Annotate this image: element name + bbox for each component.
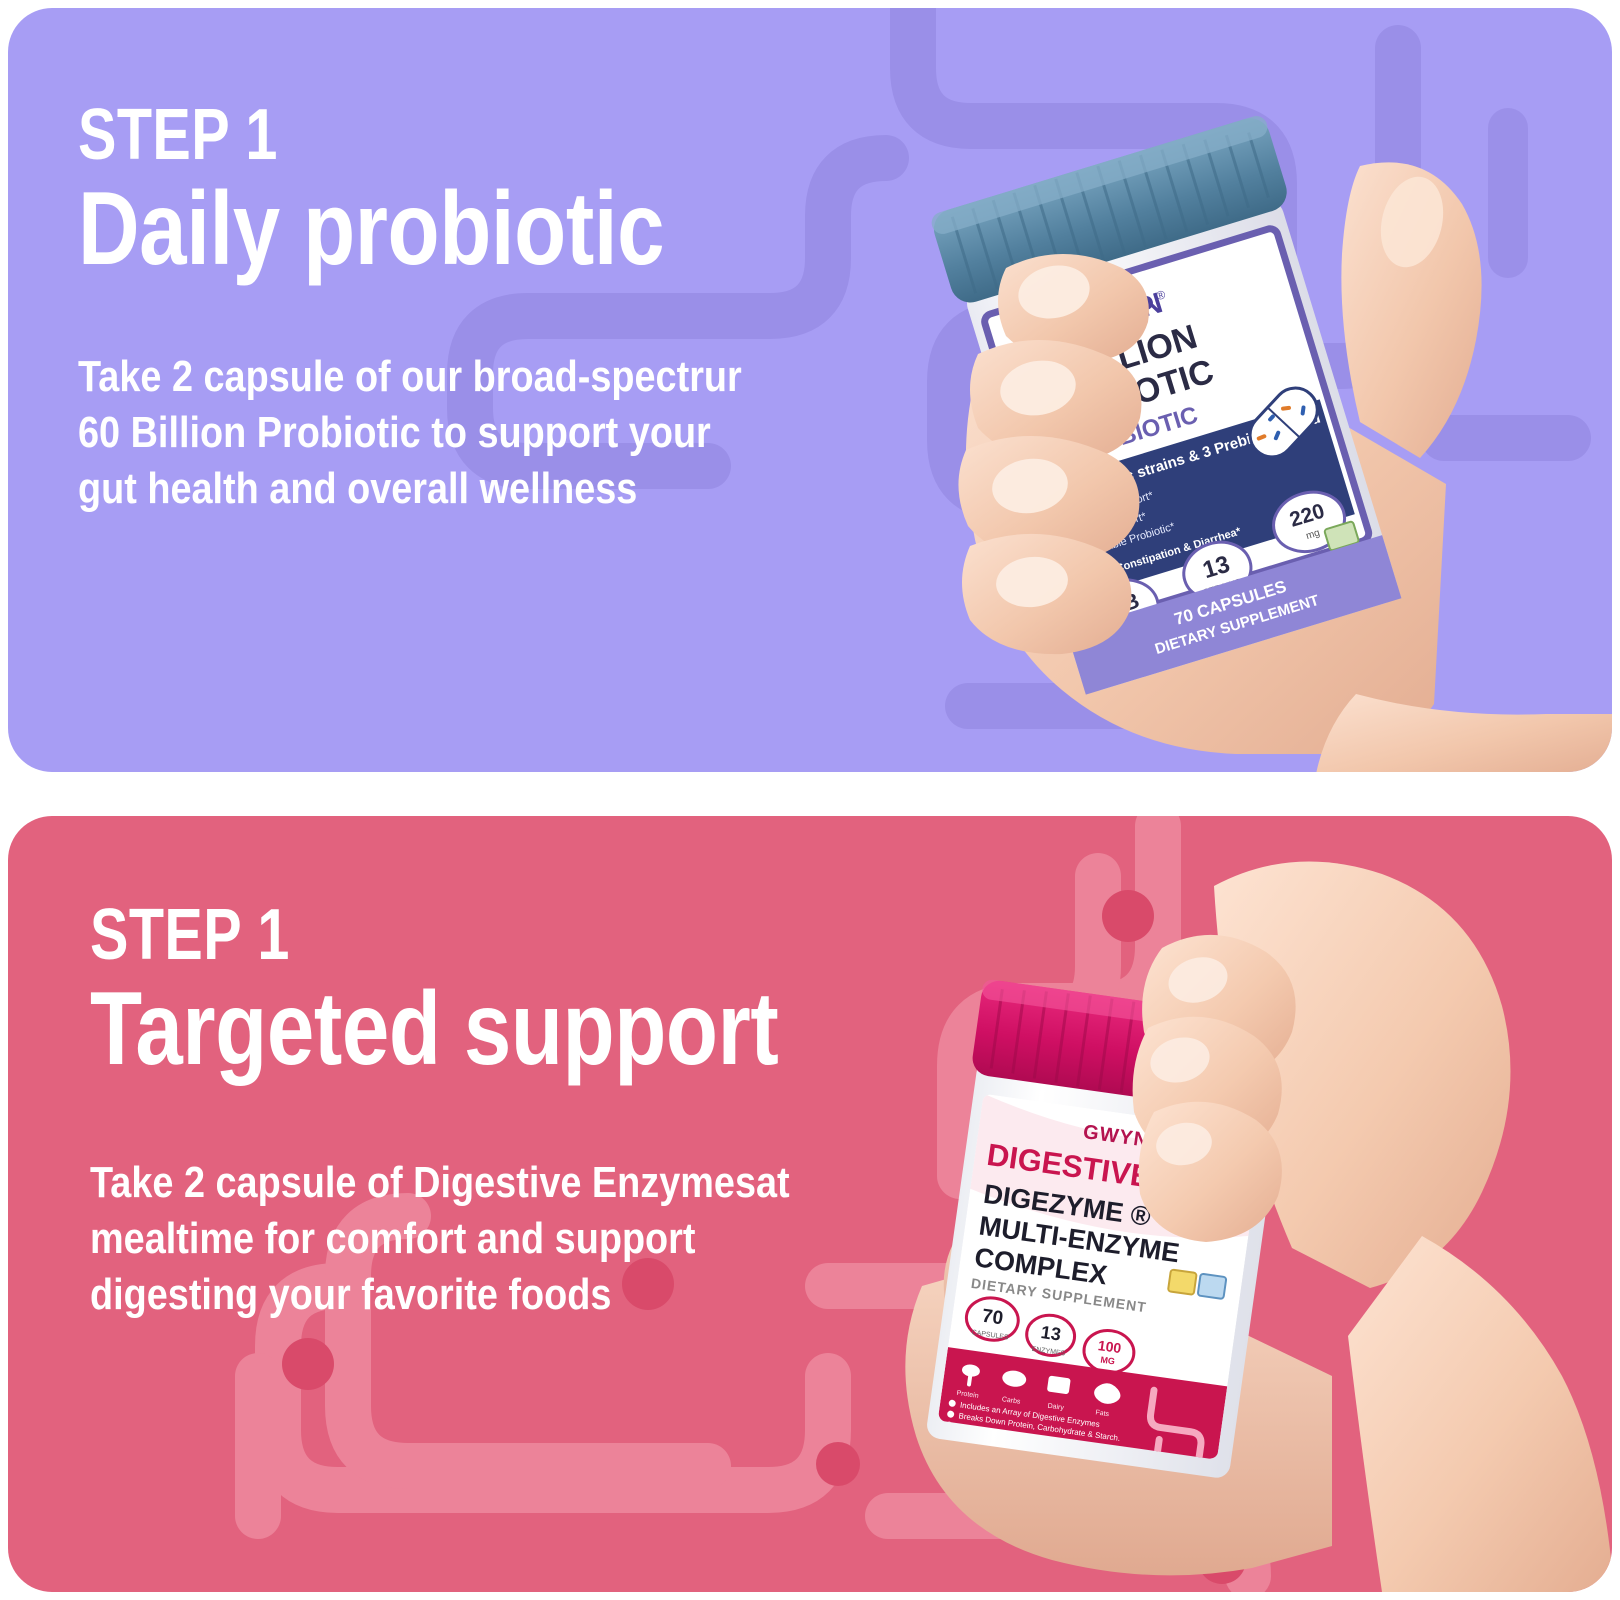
- probiotic-step-title: Daily probiotic: [78, 175, 750, 283]
- enzymes-step-eyebrow: STEP 1: [90, 900, 762, 971]
- svg-text:MG: MG: [1100, 1355, 1116, 1367]
- probiotic-copy-block: STEP 1 Daily probiotic Take 2 capsule of…: [78, 100, 898, 518]
- probiotic-body-text: Take 2 capsule of our broad-spectrur 60 …: [78, 349, 783, 518]
- probiotic-step-eyebrow: STEP 1: [78, 100, 734, 171]
- svg-text:100: 100: [1097, 1337, 1123, 1356]
- probiotic-body-line-1: Take 2 capsule of our broad-spectrur: [78, 349, 783, 405]
- enzymes-body-text: Take 2 capsule of Digestive Enzymesat me…: [90, 1155, 812, 1324]
- hands-holding-enzyme-jar: GWYNNE ® DIGESTIVE ENZYMES DIGEZYME ® MU…: [862, 816, 1612, 1592]
- svg-text:70: 70: [981, 1306, 1005, 1330]
- infographic-page: STEP 1 Daily probiotic Take 2 capsule of…: [0, 0, 1620, 1600]
- enzymes-body-line-3: digesting your favorite foods: [90, 1267, 812, 1323]
- enzymes-copy-block: STEP 1 Targeted support Take 2 capsule o…: [90, 900, 930, 1324]
- svg-text:13: 13: [1040, 1322, 1063, 1345]
- enzymes-body-line-2: mealtime for comfort and support: [90, 1211, 812, 1267]
- enzymes-step-title: Targeted support: [90, 975, 779, 1083]
- hand-holding-probiotic-bottle: GWYNN ® 60 BILLION PROBIOTIC + PREBIOTIC…: [886, 54, 1612, 772]
- probiotic-body-line-2: 60 Billion Probiotic to support your: [78, 405, 783, 461]
- enzymes-body-line-1: Take 2 capsule of Digestive Enzymesat: [90, 1155, 812, 1211]
- panel-daily-probiotic: STEP 1 Daily probiotic Take 2 capsule of…: [8, 8, 1612, 772]
- panel-targeted-support: STEP 1 Targeted support Take 2 capsule o…: [8, 816, 1612, 1592]
- probiotic-body-line-3: gut health and overall wellness: [78, 461, 783, 517]
